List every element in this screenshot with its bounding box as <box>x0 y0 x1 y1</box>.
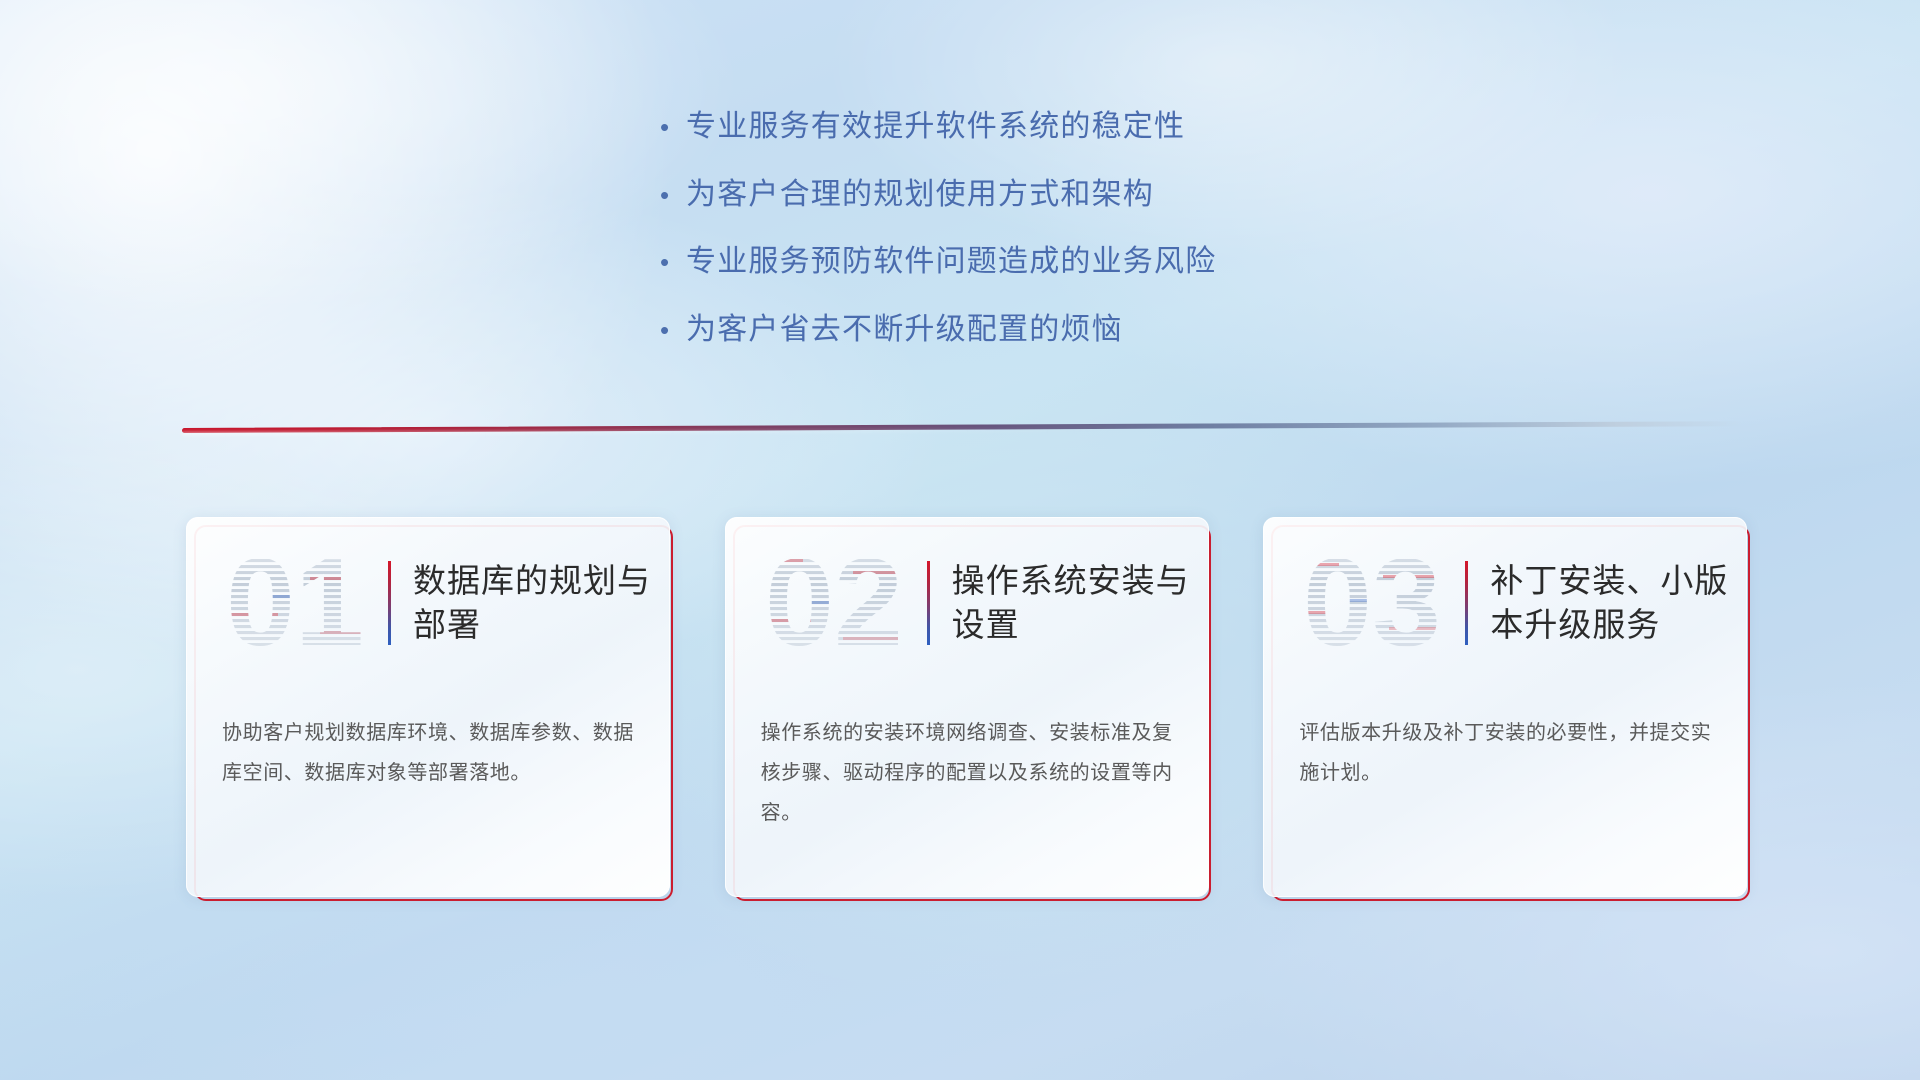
list-item: • 专业服务预防软件问题造成的业务风险 <box>660 243 1216 281</box>
card-accent-bar <box>927 561 930 645</box>
card-description: 评估版本升级及补丁安装的必要性，并提交实施计划。 <box>1299 713 1711 793</box>
card-number-striped: 01 <box>202 541 388 665</box>
card-surface: 02 操 <box>725 517 1209 897</box>
card-accent-bar <box>388 561 391 645</box>
list-item: • 为客户省去不断升级配置的烦恼 <box>660 311 1216 349</box>
card-title: 数据库的规划与部署 <box>413 559 670 646</box>
list-item: • 专业服务有效提升软件系统的稳定性 <box>660 108 1216 146</box>
divider-line <box>182 421 1742 433</box>
section-divider <box>182 424 1742 440</box>
card-header: 03 补 <box>1263 535 1747 671</box>
bullet-dot-icon: • <box>660 182 686 208</box>
card-number-striped: 02 <box>741 541 927 665</box>
bullet-text: 专业服务有效提升软件系统的稳定性 <box>686 108 1185 146</box>
card-description: 操作系统的安装环境网络调查、安装标准及复核步骤、驱动程序的配置以及系统的设置等内… <box>761 713 1173 833</box>
card-number-striped: 03 <box>1279 541 1465 665</box>
card-accent-bar <box>1465 561 1468 645</box>
bullet-dot-icon: • <box>660 114 686 140</box>
card-surface: 01 数 <box>186 517 670 897</box>
bullet-text: 专业服务预防软件问题造成的业务风险 <box>686 243 1216 281</box>
service-card-group: 01 数 <box>186 517 1746 919</box>
card-header: 02 操 <box>725 535 1209 671</box>
card-title: 补丁安装、小版本升级服务 <box>1490 559 1747 646</box>
card-description: 协助客户规划数据库环境、数据库参数、数据库空间、数据库对象等部署落地。 <box>222 713 634 793</box>
service-card[interactable]: 01 数 <box>186 517 669 897</box>
bullet-text: 为客户合理的规划使用方式和架构 <box>686 176 1154 214</box>
bullet-text: 为客户省去不断升级配置的烦恼 <box>686 311 1123 349</box>
list-item: • 为客户合理的规划使用方式和架构 <box>660 176 1216 214</box>
service-card[interactable]: 02 操 <box>725 517 1208 897</box>
card-title: 操作系统安装与设置 <box>952 559 1209 646</box>
service-card[interactable]: 03 补 <box>1263 517 1746 897</box>
bullet-dot-icon: • <box>660 317 686 343</box>
bullet-dot-icon: • <box>660 249 686 275</box>
card-header: 01 数 <box>186 535 670 671</box>
feature-bullet-list: • 专业服务有效提升软件系统的稳定性 • 为客户合理的规划使用方式和架构 • 专… <box>660 108 1216 378</box>
card-surface: 03 补 <box>1263 517 1747 897</box>
